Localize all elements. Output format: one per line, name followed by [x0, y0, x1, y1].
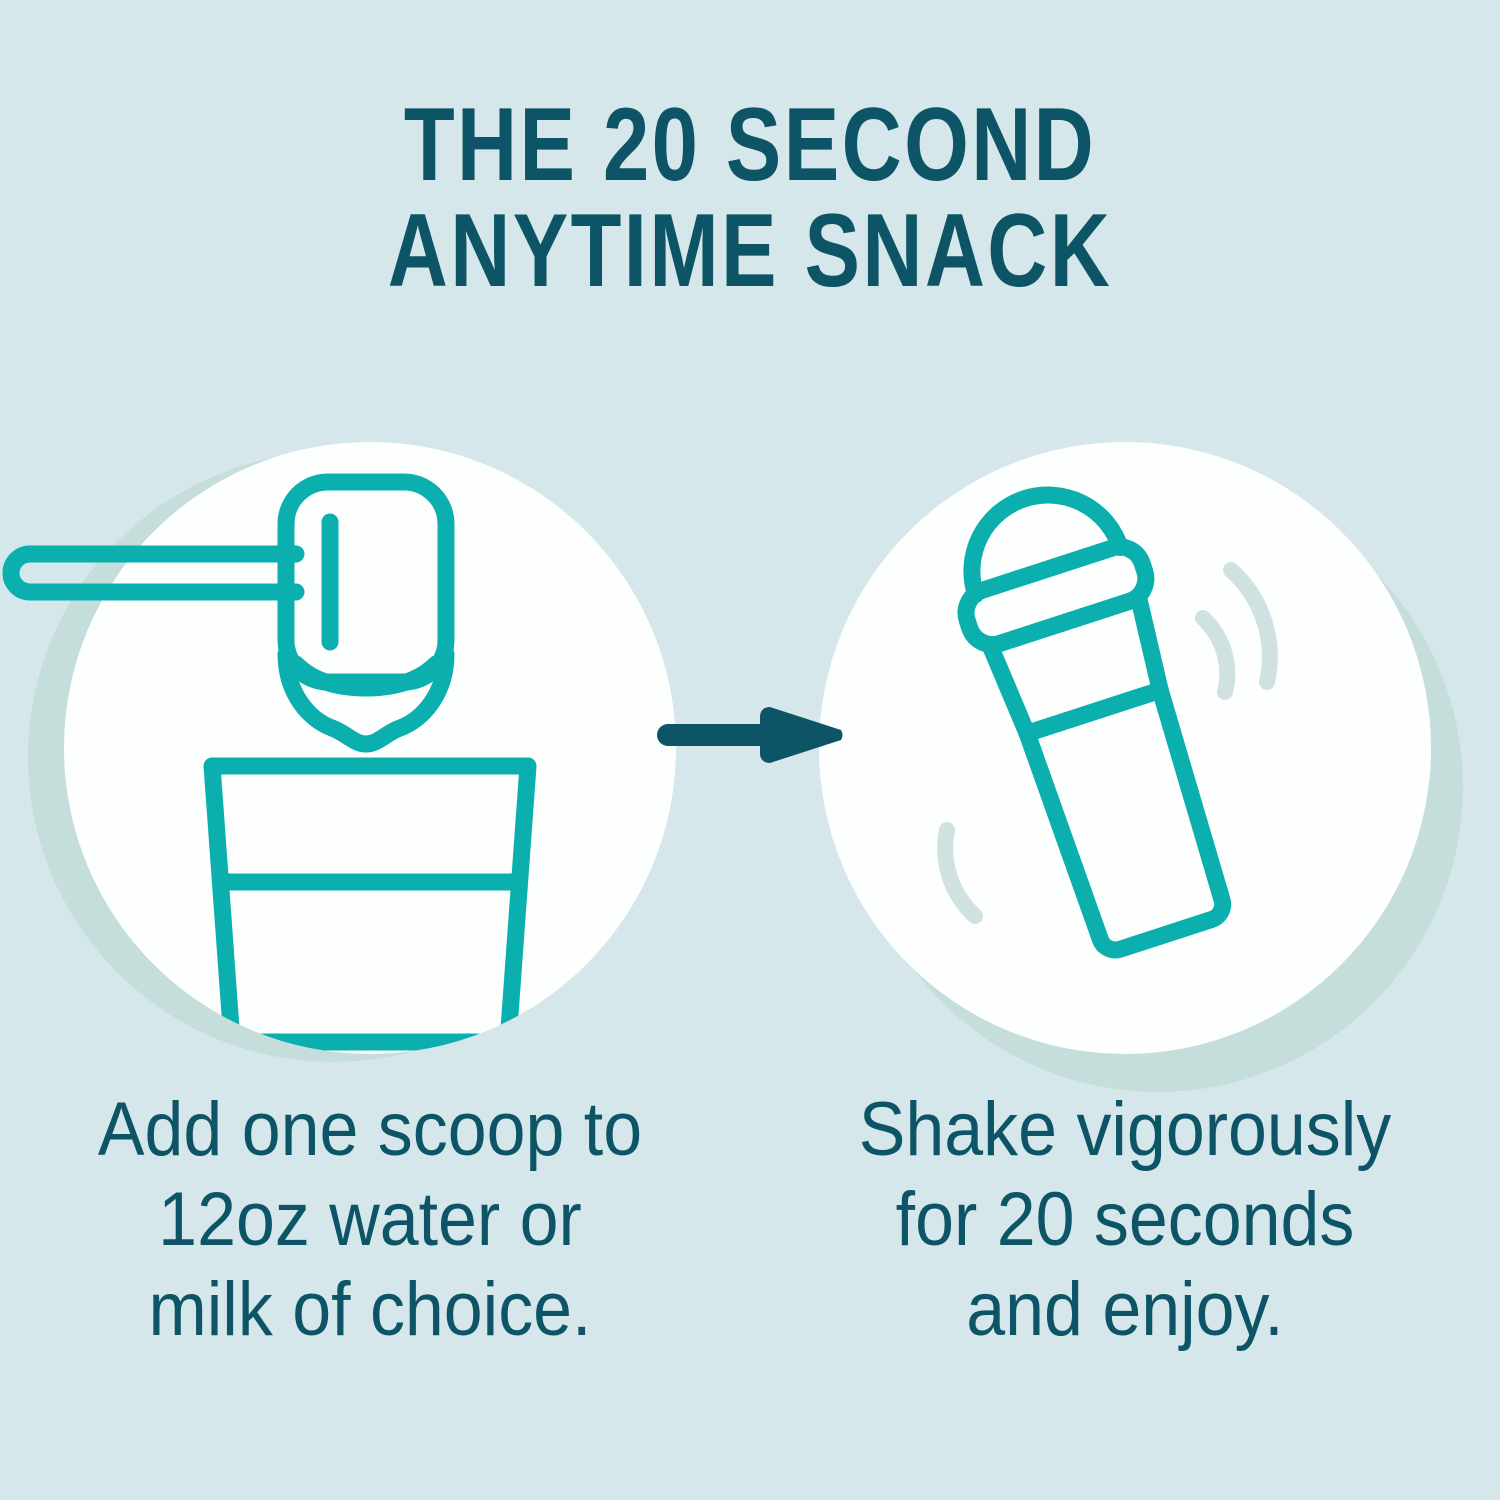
shaker-bottle-icon: [819, 442, 1431, 1054]
caption-line: and enjoy.: [803, 1265, 1447, 1355]
step-1-illustration: [20, 430, 720, 1070]
caption-line: Add one scoop to: [48, 1085, 692, 1175]
white-circle-left: [64, 442, 676, 1054]
white-circle-right: [819, 442, 1431, 1054]
step-2-caption: Shake vigorously for 20 seconds and enjo…: [775, 1085, 1475, 1355]
bottle-group: [937, 470, 1254, 962]
caption-line: Shake vigorously: [803, 1085, 1447, 1175]
caption-line: milk of choice.: [48, 1265, 692, 1355]
page-title: THE 20 SECOND ANYTIME SNACK: [0, 92, 1500, 304]
infographic-poster: THE 20 SECOND ANYTIME SNACK: [0, 0, 1500, 1500]
title-line-2: ANYTIME SNACK: [150, 198, 1350, 304]
step-2-illustration: [775, 430, 1475, 1070]
motion-arc-group: [945, 570, 1270, 916]
caption-line: 12oz water or: [48, 1175, 692, 1265]
title-line-1: THE 20 SECOND: [150, 92, 1350, 198]
step-card-add-scoop: Add one scoop to 12oz water or milk of c…: [20, 430, 720, 1440]
scoop-and-cup-icon: [64, 442, 676, 1054]
step-1-caption: Add one scoop to 12oz water or milk of c…: [20, 1085, 720, 1355]
step-card-shake: Shake vigorously for 20 seconds and enjo…: [775, 430, 1475, 1440]
caption-line: for 20 seconds: [803, 1175, 1447, 1265]
right-arrow-icon: [655, 700, 855, 770]
